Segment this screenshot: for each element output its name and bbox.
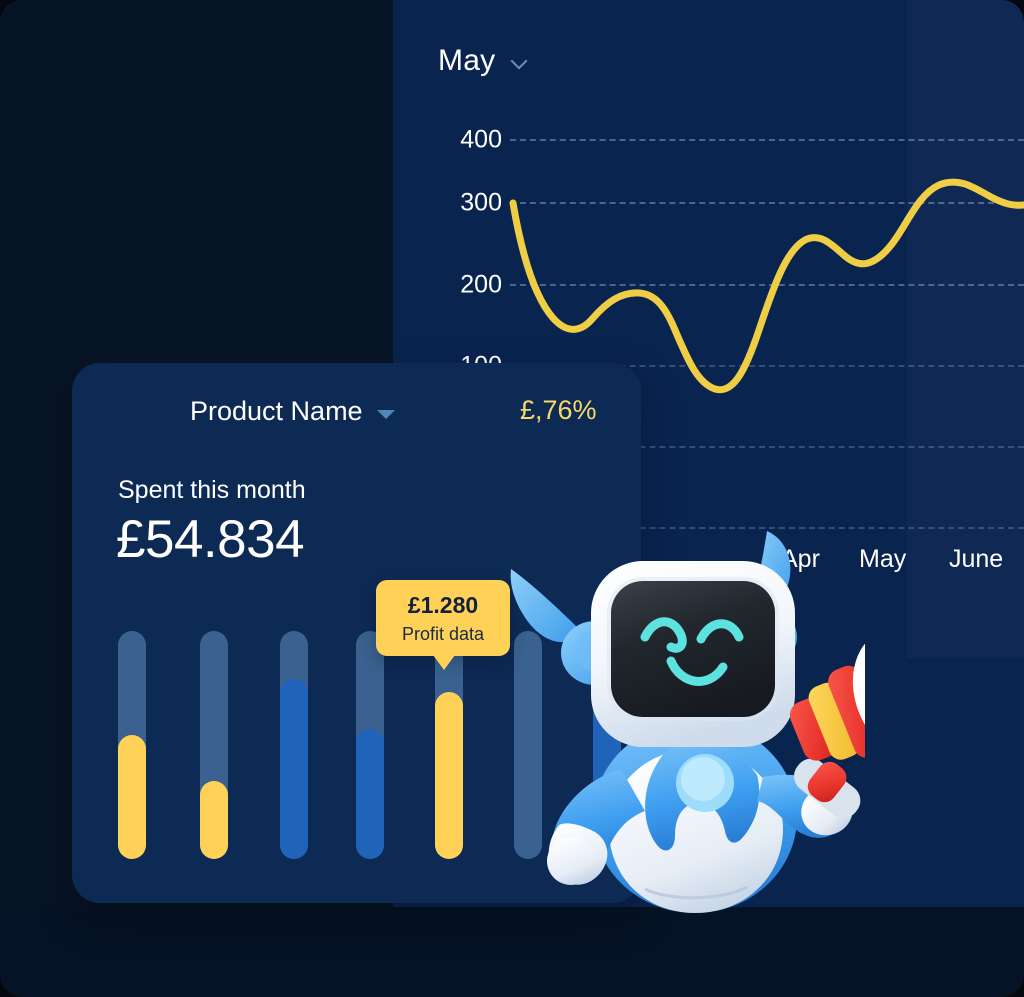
robot-head	[591, 561, 795, 747]
bar-track[interactable]	[118, 631, 146, 859]
bar-track[interactable]	[280, 631, 308, 859]
profit-tooltip: £1.280 Profit data	[376, 580, 510, 656]
bar-fill	[356, 729, 384, 859]
x-label-june: June	[949, 545, 1003, 574]
bar-track[interactable]	[356, 631, 384, 859]
bar-fill	[280, 679, 308, 859]
screenshot-root: May 400 300 200 100 Apr May June Product…	[0, 0, 1024, 997]
robot-mascot	[505, 525, 865, 915]
tooltip-caption: Profit data	[376, 624, 510, 645]
tooltip-value: £1.280	[376, 592, 510, 619]
bar-fill	[435, 692, 463, 859]
bar-track[interactable]	[200, 631, 228, 859]
revenue-line-path	[513, 182, 1024, 390]
tooltip-pointer	[433, 655, 455, 670]
bar-fill	[200, 781, 228, 859]
robot-face-screen	[611, 581, 775, 717]
x-label-may: May	[859, 545, 906, 574]
bar-fill	[118, 735, 146, 859]
